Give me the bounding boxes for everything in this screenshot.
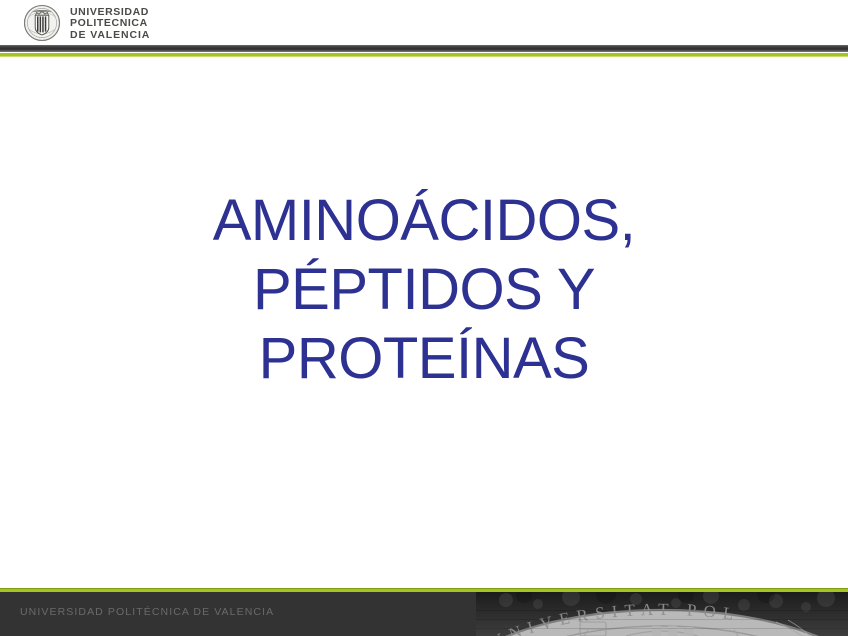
slide-title: AMINOÁCIDOS, PÉPTIDOS Y PROTEÍNAS — [60, 186, 788, 393]
slide-footer: UNIVERSIDAD POLITÉCNICA DE VALENCIA — [0, 592, 848, 636]
header-dark-rule — [0, 45, 848, 52]
slide-body: AMINOÁCIDOS, PÉPTIDOS Y PROTEÍNAS — [0, 58, 848, 588]
university-brand: UNIVERSIDAD POLITECNICA DE VALENCIA — [22, 3, 150, 43]
university-medallion-photo: VNIVERSITAT POL — [476, 592, 848, 636]
slide-header: UNIVERSIDAD POLITECNICA DE VALENCIA — [0, 0, 848, 45]
brand-line-2: POLITECNICA — [70, 18, 150, 29]
brand-line-3: DE VALENCIA — [70, 30, 150, 41]
presentation-slide: UNIVERSIDAD POLITECNICA DE VALENCIA AMIN… — [0, 0, 848, 636]
upv-coat-of-arms-seal-icon — [22, 3, 62, 43]
university-brand-text: UNIVERSIDAD POLITECNICA DE VALENCIA — [70, 5, 150, 41]
header-green-rule-shade — [0, 56, 848, 57]
footer-green-rule-shade — [0, 588, 848, 589]
footer-label: UNIVERSIDAD POLITÉCNICA DE VALENCIA — [20, 606, 274, 618]
